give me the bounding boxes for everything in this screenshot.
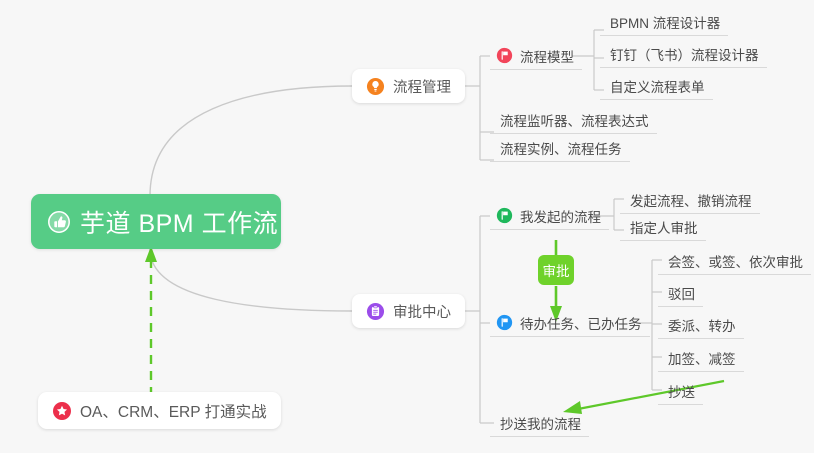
node-label: 钉钉（飞书）流程设计器 — [610, 44, 759, 64]
node-label: 待办任务、已办任务 — [520, 313, 642, 333]
root-label: 芋道 BPM 工作流 — [80, 204, 278, 240]
node-label: 自定义流程表单 — [610, 76, 705, 96]
node-cc-to-me-process[interactable]: 抄送我的流程 — [490, 409, 589, 437]
node-label: 加签、减签 — [668, 348, 736, 368]
branch-label: 流程管理 — [393, 76, 451, 97]
node-label: 指定人审批 — [630, 217, 698, 237]
node-label: 流程模型 — [520, 46, 574, 66]
node-process-model[interactable]: 流程模型 — [490, 42, 582, 70]
node-countersign-or-sequential[interactable]: 会签、或签、依次审批 — [658, 247, 811, 275]
star-icon — [52, 401, 72, 421]
flag-red-icon — [496, 47, 513, 64]
node-process-listener-expression[interactable]: 流程监听器、流程表达式 — [490, 106, 657, 134]
node-custom-process-form[interactable]: 自定义流程表单 — [600, 72, 713, 100]
node-my-initiated-process[interactable]: 我发起的流程 — [490, 202, 609, 230]
branch-approval-center[interactable]: 审批中心 — [352, 294, 465, 328]
node-cc[interactable]: 抄送 — [658, 377, 703, 405]
node-label: 委派、转办 — [668, 315, 736, 335]
footer-node-label: OA、CRM、ERP 打通实战 — [80, 400, 267, 422]
clipboard-purple-icon — [366, 302, 385, 321]
node-label: 抄送我的流程 — [500, 413, 581, 433]
branch-process-management[interactable]: 流程管理 — [352, 69, 465, 103]
node-todo-done-task[interactable]: 待办任务、已办任务 — [490, 309, 650, 337]
node-dingtalk-feishu-designer[interactable]: 钉钉（飞书）流程设计器 — [600, 40, 767, 68]
node-label: 抄送 — [668, 381, 695, 401]
node-start-cancel-process[interactable]: 发起流程、撤销流程 — [620, 186, 760, 214]
node-label: 流程实例、流程任务 — [500, 138, 622, 158]
node-label: 我发起的流程 — [520, 206, 601, 226]
node-reject[interactable]: 驳回 — [658, 279, 703, 307]
node-label: 发起流程、撤销流程 — [630, 190, 752, 210]
node-add-remove-sign[interactable]: 加签、减签 — [658, 344, 744, 372]
node-process-instance-task[interactable]: 流程实例、流程任务 — [490, 134, 630, 162]
node-label: 会签、或签、依次审批 — [668, 251, 803, 271]
node-label: 驳回 — [668, 283, 695, 303]
node-label: BPMN 流程设计器 — [610, 12, 720, 32]
flag-blue-icon — [496, 314, 513, 331]
badge-label: 审批 — [543, 260, 570, 280]
node-designated-approver[interactable]: 指定人审批 — [620, 213, 706, 241]
footer-node-oa-crm-erp[interactable]: OA、CRM、ERP 打通实战 — [38, 392, 281, 429]
node-bpmn-designer[interactable]: BPMN 流程设计器 — [600, 8, 728, 36]
node-delegate-transfer[interactable]: 委派、转办 — [658, 311, 744, 339]
approval-badge[interactable]: 审批 — [538, 255, 574, 285]
mindmap-canvas: 芋道 BPM 工作流 流程管理 流程模型 BPMN 流程设计器 钉钉（飞书）流程 — [0, 0, 814, 453]
root-node[interactable]: 芋道 BPM 工作流 — [31, 194, 281, 249]
flag-green-icon — [496, 207, 513, 224]
branch-label: 审批中心 — [393, 301, 451, 322]
lightbulb-icon — [366, 77, 385, 96]
node-label: 流程监听器、流程表达式 — [500, 110, 649, 130]
thumbs-up-icon — [47, 210, 71, 234]
